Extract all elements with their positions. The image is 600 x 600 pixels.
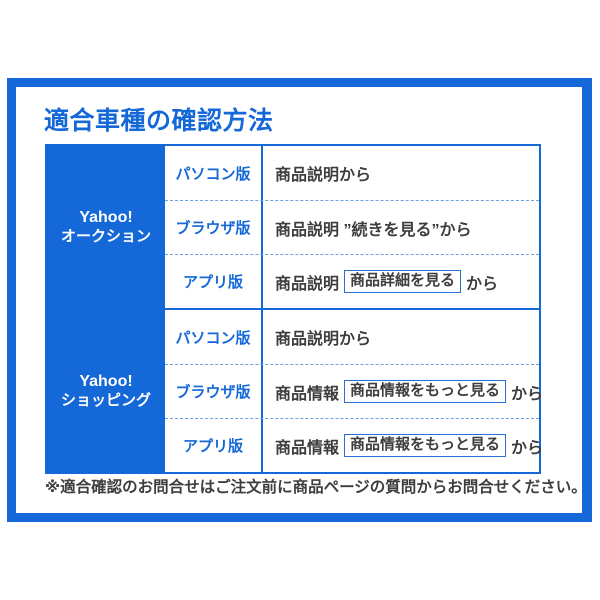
- brand-name-bottom: ショッピング: [61, 392, 151, 409]
- table-section-shopping: Yahoo! ショッピング パソコン版 商品説明から ブラウザ版: [47, 308, 539, 472]
- instruction-prefix: 商品説明 ”続きを見る”から: [275, 216, 471, 240]
- boxed-button-label[interactable]: 商品情報をもっと見る: [344, 434, 506, 458]
- instruction-prefix: 商品情報: [275, 380, 339, 404]
- brand-name-top: Yahoo!: [79, 209, 132, 227]
- instruction-cell: 商品説明から: [263, 161, 539, 185]
- instruction-prefix: 商品説明: [275, 270, 339, 294]
- device-label: アプリ版: [165, 255, 263, 308]
- row-group-auction: パソコン版 商品説明から ブラウザ版 商品説明 ”続きを見る”から: [165, 146, 539, 308]
- boxed-button-label[interactable]: 商品情報をもっと見る: [344, 380, 506, 404]
- brand-name-top: Yahoo!: [79, 373, 132, 391]
- device-label: ブラウザ版: [165, 365, 263, 418]
- page-canvas: 適合車種の確認方法 Yahoo! オークション パソコン版 商品説明から: [0, 0, 600, 600]
- table-row: アプリ版 商品情報 商品情報をもっと見る から: [165, 418, 539, 472]
- row-group-shopping: パソコン版 商品説明から ブラウザ版 商品情報 商品情報をもっと見る から: [165, 310, 539, 472]
- instruction-prefix: 商品情報: [275, 434, 339, 458]
- instruction-prefix: 商品説明から: [275, 161, 371, 185]
- brand-name-bottom: オークション: [61, 228, 151, 245]
- instruction-cell: 商品情報 商品情報をもっと見る から: [263, 380, 539, 404]
- table-section-auction: Yahoo! オークション パソコン版 商品説明から ブラウザ版: [47, 146, 539, 308]
- table-row: ブラウザ版 商品情報 商品情報をもっと見る から: [165, 364, 539, 418]
- instruction-cell: 商品情報 商品情報をもっと見る から: [263, 434, 539, 458]
- brand-cell-shopping: Yahoo! ショッピング: [47, 310, 165, 472]
- table-row: アプリ版 商品説明 商品詳細を見る から: [165, 254, 539, 308]
- instruction-cell: 商品説明から: [263, 325, 539, 349]
- boxed-button-label[interactable]: 商品詳細を見る: [344, 270, 461, 294]
- instruction-cell: 商品説明 商品詳細を見る から: [263, 270, 539, 294]
- instruction-suffix: から: [511, 380, 543, 404]
- table-row: パソコン版 商品説明から: [165, 146, 539, 200]
- table-row: パソコン版 商品説明から: [165, 310, 539, 364]
- info-panel: 適合車種の確認方法 Yahoo! オークション パソコン版 商品説明から: [16, 87, 582, 513]
- instruction-prefix: 商品説明から: [275, 325, 371, 349]
- device-label: ブラウザ版: [165, 201, 263, 254]
- device-label: パソコン版: [165, 310, 263, 364]
- compatibility-table: Yahoo! オークション パソコン版 商品説明から ブラウザ版: [45, 144, 541, 474]
- instruction-suffix: から: [466, 270, 498, 294]
- footer-note: ※適合確認のお問合せはご注文前に商品ページの質問からお問合せください。: [45, 475, 565, 497]
- instruction-suffix: から: [511, 434, 543, 458]
- instruction-cell: 商品説明 ”続きを見る”から: [263, 216, 539, 240]
- table-row: ブラウザ版 商品説明 ”続きを見る”から: [165, 200, 539, 254]
- device-label: パソコン版: [165, 146, 263, 200]
- page-title: 適合車種の確認方法: [44, 101, 274, 137]
- brand-cell-auction: Yahoo! オークション: [47, 146, 165, 308]
- blue-frame-border: 適合車種の確認方法 Yahoo! オークション パソコン版 商品説明から: [7, 78, 592, 522]
- device-label: アプリ版: [165, 419, 263, 472]
